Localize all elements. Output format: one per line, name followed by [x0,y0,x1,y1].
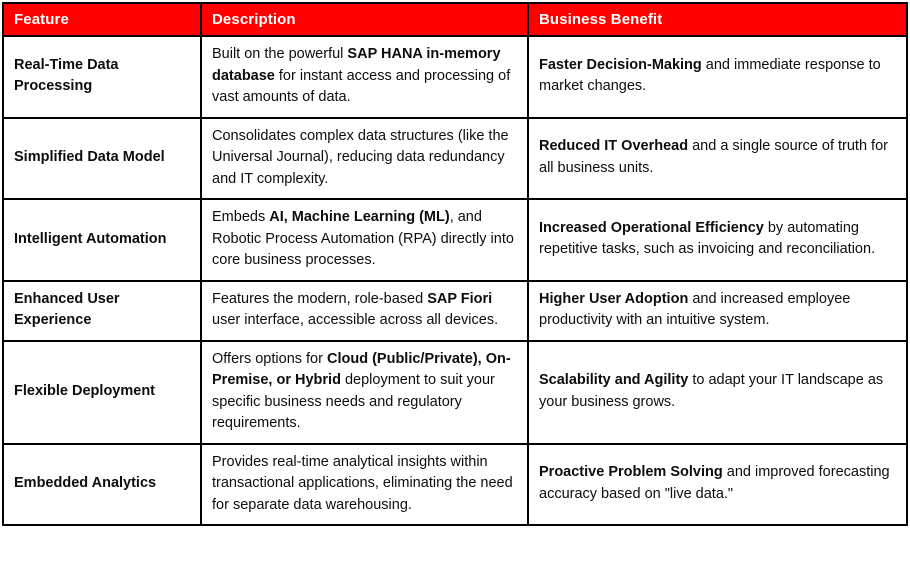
cell-business-benefit: Scalability and Agility to adapt your IT… [528,341,907,444]
table-body: Real-Time Data ProcessingBuilt on the po… [3,36,907,525]
column-header-business-benefit: Business Benefit [528,3,907,36]
cell-description: Provides real-time analytical insights w… [201,444,528,526]
cell-description: Embeds AI, Machine Learning (ML), and Ro… [201,199,528,281]
cell-description: Built on the powerful SAP HANA in-memory… [201,36,528,118]
cell-business-benefit: Increased Operational Efficiency by auto… [528,199,907,281]
cell-feature: Enhanced User Experience [3,281,201,341]
cell-business-benefit: Higher User Adoption and increased emplo… [528,281,907,341]
table-row: Enhanced User ExperienceFeatures the mod… [3,281,907,341]
cell-description: Offers options for Cloud (Public/Private… [201,341,528,444]
cell-business-benefit: Proactive Problem Solving and improved f… [528,444,907,526]
table-header: Feature Description Business Benefit [3,3,907,36]
cell-description: Consolidates complex data structures (li… [201,118,528,200]
cell-feature: Simplified Data Model [3,118,201,200]
cell-description: Features the modern, role-based SAP Fior… [201,281,528,341]
table-row: Embedded AnalyticsProvides real-time ana… [3,444,907,526]
cell-feature: Intelligent Automation [3,199,201,281]
cell-business-benefit: Faster Decision-Making and immediate res… [528,36,907,118]
cell-business-benefit: Reduced IT Overhead and a single source … [528,118,907,200]
cell-feature: Real-Time Data Processing [3,36,201,118]
column-header-feature: Feature [3,3,201,36]
feature-comparison-table: Feature Description Business Benefit Rea… [2,2,908,526]
column-header-description: Description [201,3,528,36]
table-row: Intelligent AutomationEmbeds AI, Machine… [3,199,907,281]
table-row: Flexible DeploymentOffers options for Cl… [3,341,907,444]
table-header-row: Feature Description Business Benefit [3,3,907,36]
cell-feature: Embedded Analytics [3,444,201,526]
cell-feature: Flexible Deployment [3,341,201,444]
feature-table-container: Feature Description Business Benefit Rea… [0,0,910,565]
table-row: Real-Time Data ProcessingBuilt on the po… [3,36,907,118]
table-row: Simplified Data ModelConsolidates comple… [3,118,907,200]
